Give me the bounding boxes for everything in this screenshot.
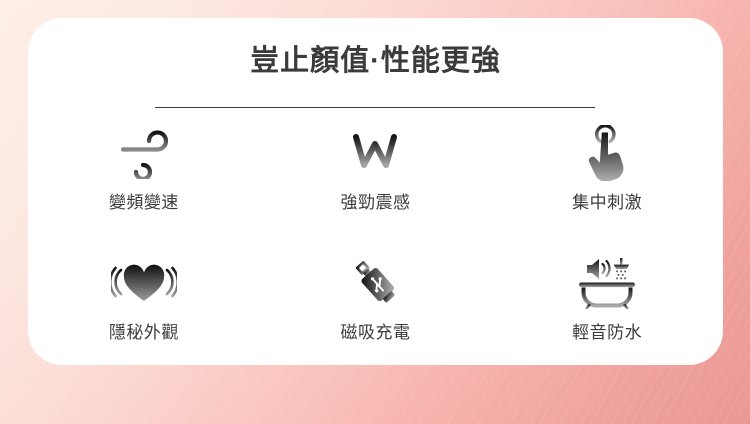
vibration-wave-icon: [347, 122, 403, 184]
feature-label: 輕音防水: [572, 322, 642, 344]
feature-item-vibration: 強勁震感: [260, 122, 492, 252]
promo-banner: 豈止顏值·性能更強: [0, 0, 750, 424]
bathtub-quiet-waterproof-icon: [575, 252, 639, 314]
page-title: 豈止顏值·性能更強: [28, 43, 723, 79]
feature-label: 隱秘外觀: [109, 322, 179, 344]
tap-hand-icon: [582, 122, 632, 184]
feature-item-waterproof: 輕音防水: [491, 252, 723, 382]
usb-drive-icon: [347, 252, 403, 314]
feature-label: 集中刺激: [572, 192, 642, 214]
wind-icon: [113, 122, 175, 184]
feature-card: 豈止顏值·性能更強: [28, 18, 723, 365]
feature-item-charging: 磁吸充電: [260, 252, 492, 382]
feature-label: 磁吸充電: [340, 322, 410, 344]
feature-item-wind: 變頻變速: [28, 122, 260, 252]
feature-grid: 變頻變速: [28, 122, 723, 382]
feature-label: 變頻變速: [109, 192, 179, 214]
feature-item-tap: 集中刺激: [491, 122, 723, 252]
feature-label: 強勁震感: [340, 192, 410, 214]
feature-item-discreet: 隱秘外觀: [28, 252, 260, 382]
heart-vibration-icon: [111, 252, 177, 314]
title-divider: [155, 107, 595, 108]
